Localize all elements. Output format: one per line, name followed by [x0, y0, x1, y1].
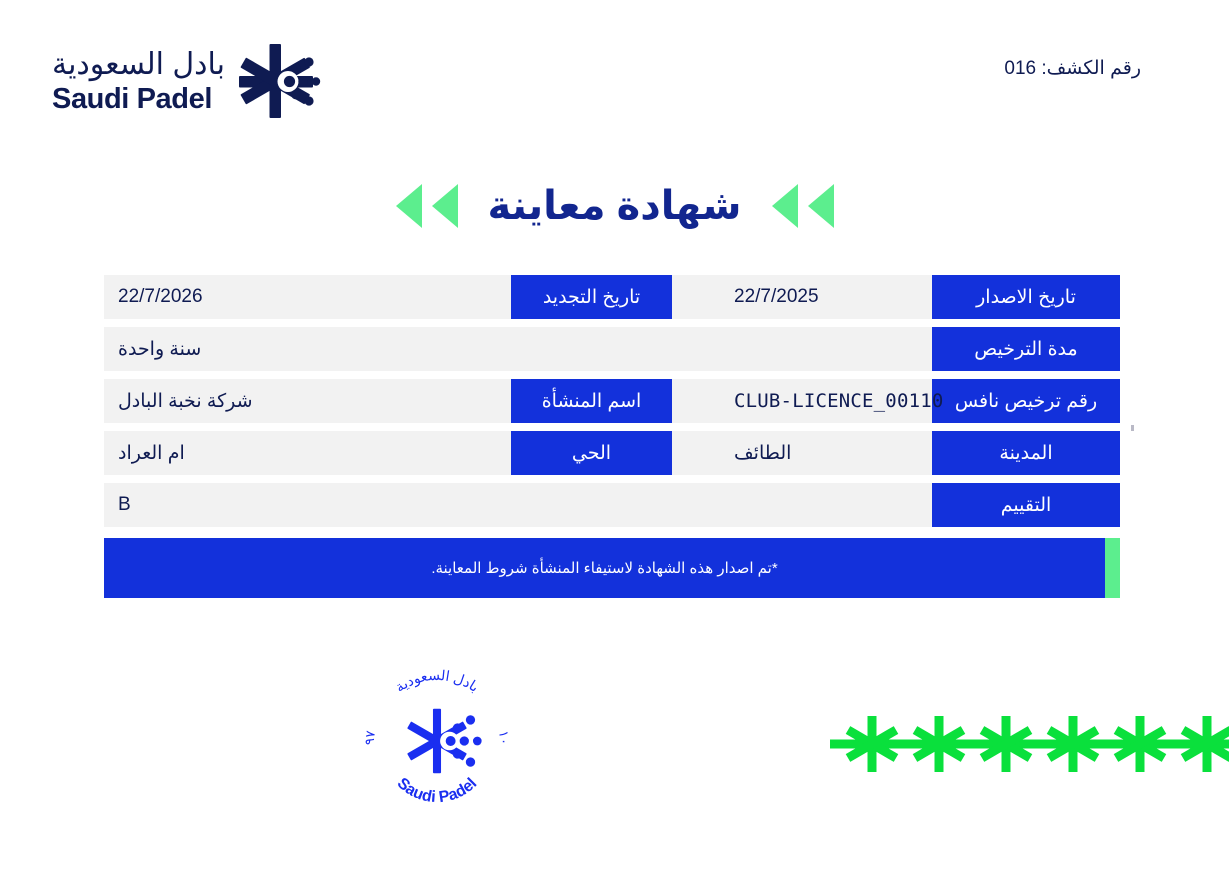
field-value-facility-name: شركة نخبة البادل: [104, 379, 511, 423]
field-value-licence-duration: سنة واحدة: [104, 327, 932, 371]
page-title: شهادة معاينة: [488, 183, 742, 229]
double-triangle-left-icon-left: [772, 184, 834, 228]
field-value-city: الطائف: [720, 431, 932, 475]
seal-arc-digits-left: ٧٠٢٦٢٠٢١٩٧: [352, 655, 378, 745]
svg-text:Saudi Padel: Saudi Padel: [394, 775, 481, 806]
brand-lockup: بادل السعودية Saudi Padel: [52, 42, 325, 122]
brand-name-english: Saudi Padel: [52, 85, 212, 114]
table-row: رقم ترخيص نافس CLUB-LICENCE_00110 اسم ال…: [104, 379, 1120, 423]
note-accent-bar: [1105, 538, 1120, 598]
triangle-left-icon: [432, 184, 458, 228]
field-value-rating: B: [104, 483, 932, 527]
table-row: التقييم B: [104, 483, 1120, 527]
brand-text: بادل السعودية Saudi Padel: [52, 50, 225, 114]
field-label-city: المدينة: [932, 431, 1120, 475]
triangle-left-icon: [808, 184, 834, 228]
triangle-left-icon: [396, 184, 422, 228]
saudi-padel-round-stamp: بادل السعودية ١٠٢٦٢٠٢١٩٧ ٧٠٢٦٢٠٢١٩٧ Saud…: [352, 655, 522, 825]
report-number: رقم الكشف: 016: [1004, 57, 1141, 80]
document-header: بادل السعودية Saudi Padel رقم الكشف: 016: [0, 0, 1229, 140]
field-label-rating: التقييم: [932, 483, 1120, 527]
seal-bottom-text: Saudi Padel: [394, 775, 481, 806]
field-value-district: ام العراد: [104, 431, 511, 475]
note-text: *تم اصدار هذه الشهادة لاستيفاء المنشأة ش…: [431, 559, 777, 577]
certificate-details-table: تاريخ الاصدار 22/7/2025 تاريخ التجديد 22…: [104, 275, 1120, 535]
field-label-licence-duration: مدة الترخيص: [932, 327, 1120, 371]
field-label-renewal-date: تاريخ التجديد: [511, 275, 672, 319]
double-triangle-left-icon-right: [396, 184, 458, 228]
field-label-district: الحي: [511, 431, 672, 475]
field-value-nafes-licence-number: CLUB-LICENCE_00110: [720, 379, 932, 423]
page-speck: [1131, 425, 1134, 431]
field-label-facility-name: اسم المنشأة: [511, 379, 672, 423]
triangle-left-icon: [772, 184, 798, 228]
field-value-issue-date: 22/7/2025: [720, 275, 932, 319]
certificate-title-block: شهادة معاينة: [0, 170, 1229, 242]
seal-top-text: بادل السعودية: [392, 667, 482, 695]
green-asterisk-chain: [826, 702, 1229, 786]
field-label-issue-date: تاريخ الاصدار: [932, 275, 1120, 319]
table-row: مدة الترخيص سنة واحدة: [104, 327, 1120, 371]
svg-text:بادل السعودية: بادل السعودية: [392, 667, 482, 695]
svg-text:٧٠٢٦٢٠٢١٩٧: ٧٠٢٦٢٠٢١٩٧: [352, 655, 378, 745]
brand-name-arabic: بادل السعودية: [52, 50, 225, 80]
field-label-nafes-licence-number: رقم ترخيص نافس: [932, 379, 1120, 423]
field-value-renewal-date: 22/7/2026: [104, 275, 511, 319]
certificate-note-row: *تم اصدار هذه الشهادة لاستيفاء المنشأة ش…: [104, 538, 1120, 598]
saudi-padel-asterisk-dots-logo: [239, 42, 325, 122]
note-band: *تم اصدار هذه الشهادة لاستيفاء المنشأة ش…: [104, 538, 1105, 598]
table-row: تاريخ الاصدار 22/7/2025 تاريخ التجديد 22…: [104, 275, 1120, 319]
table-row: المدينة الطائف الحي ام العراد: [104, 431, 1120, 475]
